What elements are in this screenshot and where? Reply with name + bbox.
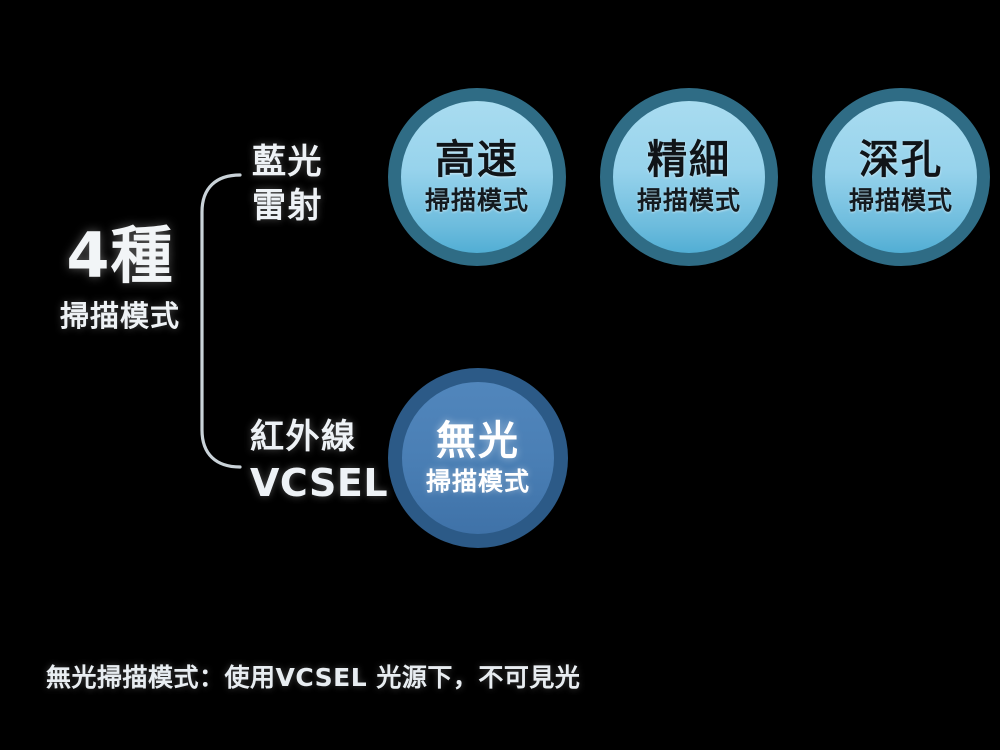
branch-label-blue-laser-line1: 藍光	[252, 140, 323, 184]
scan-mode-bubble-deep-hole[interactable]: 深孔 掃描模式	[812, 88, 990, 266]
scan-mode-bubble-high-speed[interactable]: 高速 掃描模式	[388, 88, 566, 266]
footnote-text: 無光掃描模式：使用VCSEL 光源下，不可見光	[46, 658, 580, 694]
scan-mode-bubble-fine-title: 精細	[647, 139, 731, 181]
scan-mode-count-subtitle: 掃描模式	[30, 301, 210, 333]
scan-mode-count: 4種	[30, 225, 210, 287]
branch-label-infrared-vcsel-line1: 紅外線	[250, 415, 388, 459]
branch-label-blue-laser: 藍光 雷射	[252, 140, 323, 228]
scan-mode-bubble-fine-subtitle: 掃描模式	[637, 188, 741, 214]
slide-canvas: 4種 掃描模式 藍光 雷射 紅外線 VCSEL 高速 掃描模式 精細 掃描模式 …	[0, 0, 1000, 750]
scan-mode-bubble-deep-hole-subtitle: 掃描模式	[849, 188, 953, 214]
branch-label-infrared-vcsel-line2: VCSEL	[250, 459, 388, 508]
scan-mode-bubble-no-light-subtitle: 掃描模式	[426, 469, 530, 495]
scan-mode-bubble-no-light[interactable]: 無光 掃描模式	[388, 368, 568, 548]
branch-label-infrared-vcsel: 紅外線 VCSEL	[250, 415, 388, 509]
scan-mode-bubble-high-speed-title: 高速	[435, 139, 519, 181]
scan-mode-bubble-no-light-title: 無光	[436, 420, 520, 462]
scan-mode-bubble-high-speed-subtitle: 掃描模式	[425, 188, 529, 214]
scan-mode-summary: 4種 掃描模式	[30, 225, 210, 333]
scan-mode-bubble-fine[interactable]: 精細 掃描模式	[600, 88, 778, 266]
grouping-bracket-icon	[196, 172, 242, 470]
branch-label-blue-laser-line2: 雷射	[252, 184, 323, 228]
scan-mode-bubble-deep-hole-title: 深孔	[859, 139, 943, 181]
